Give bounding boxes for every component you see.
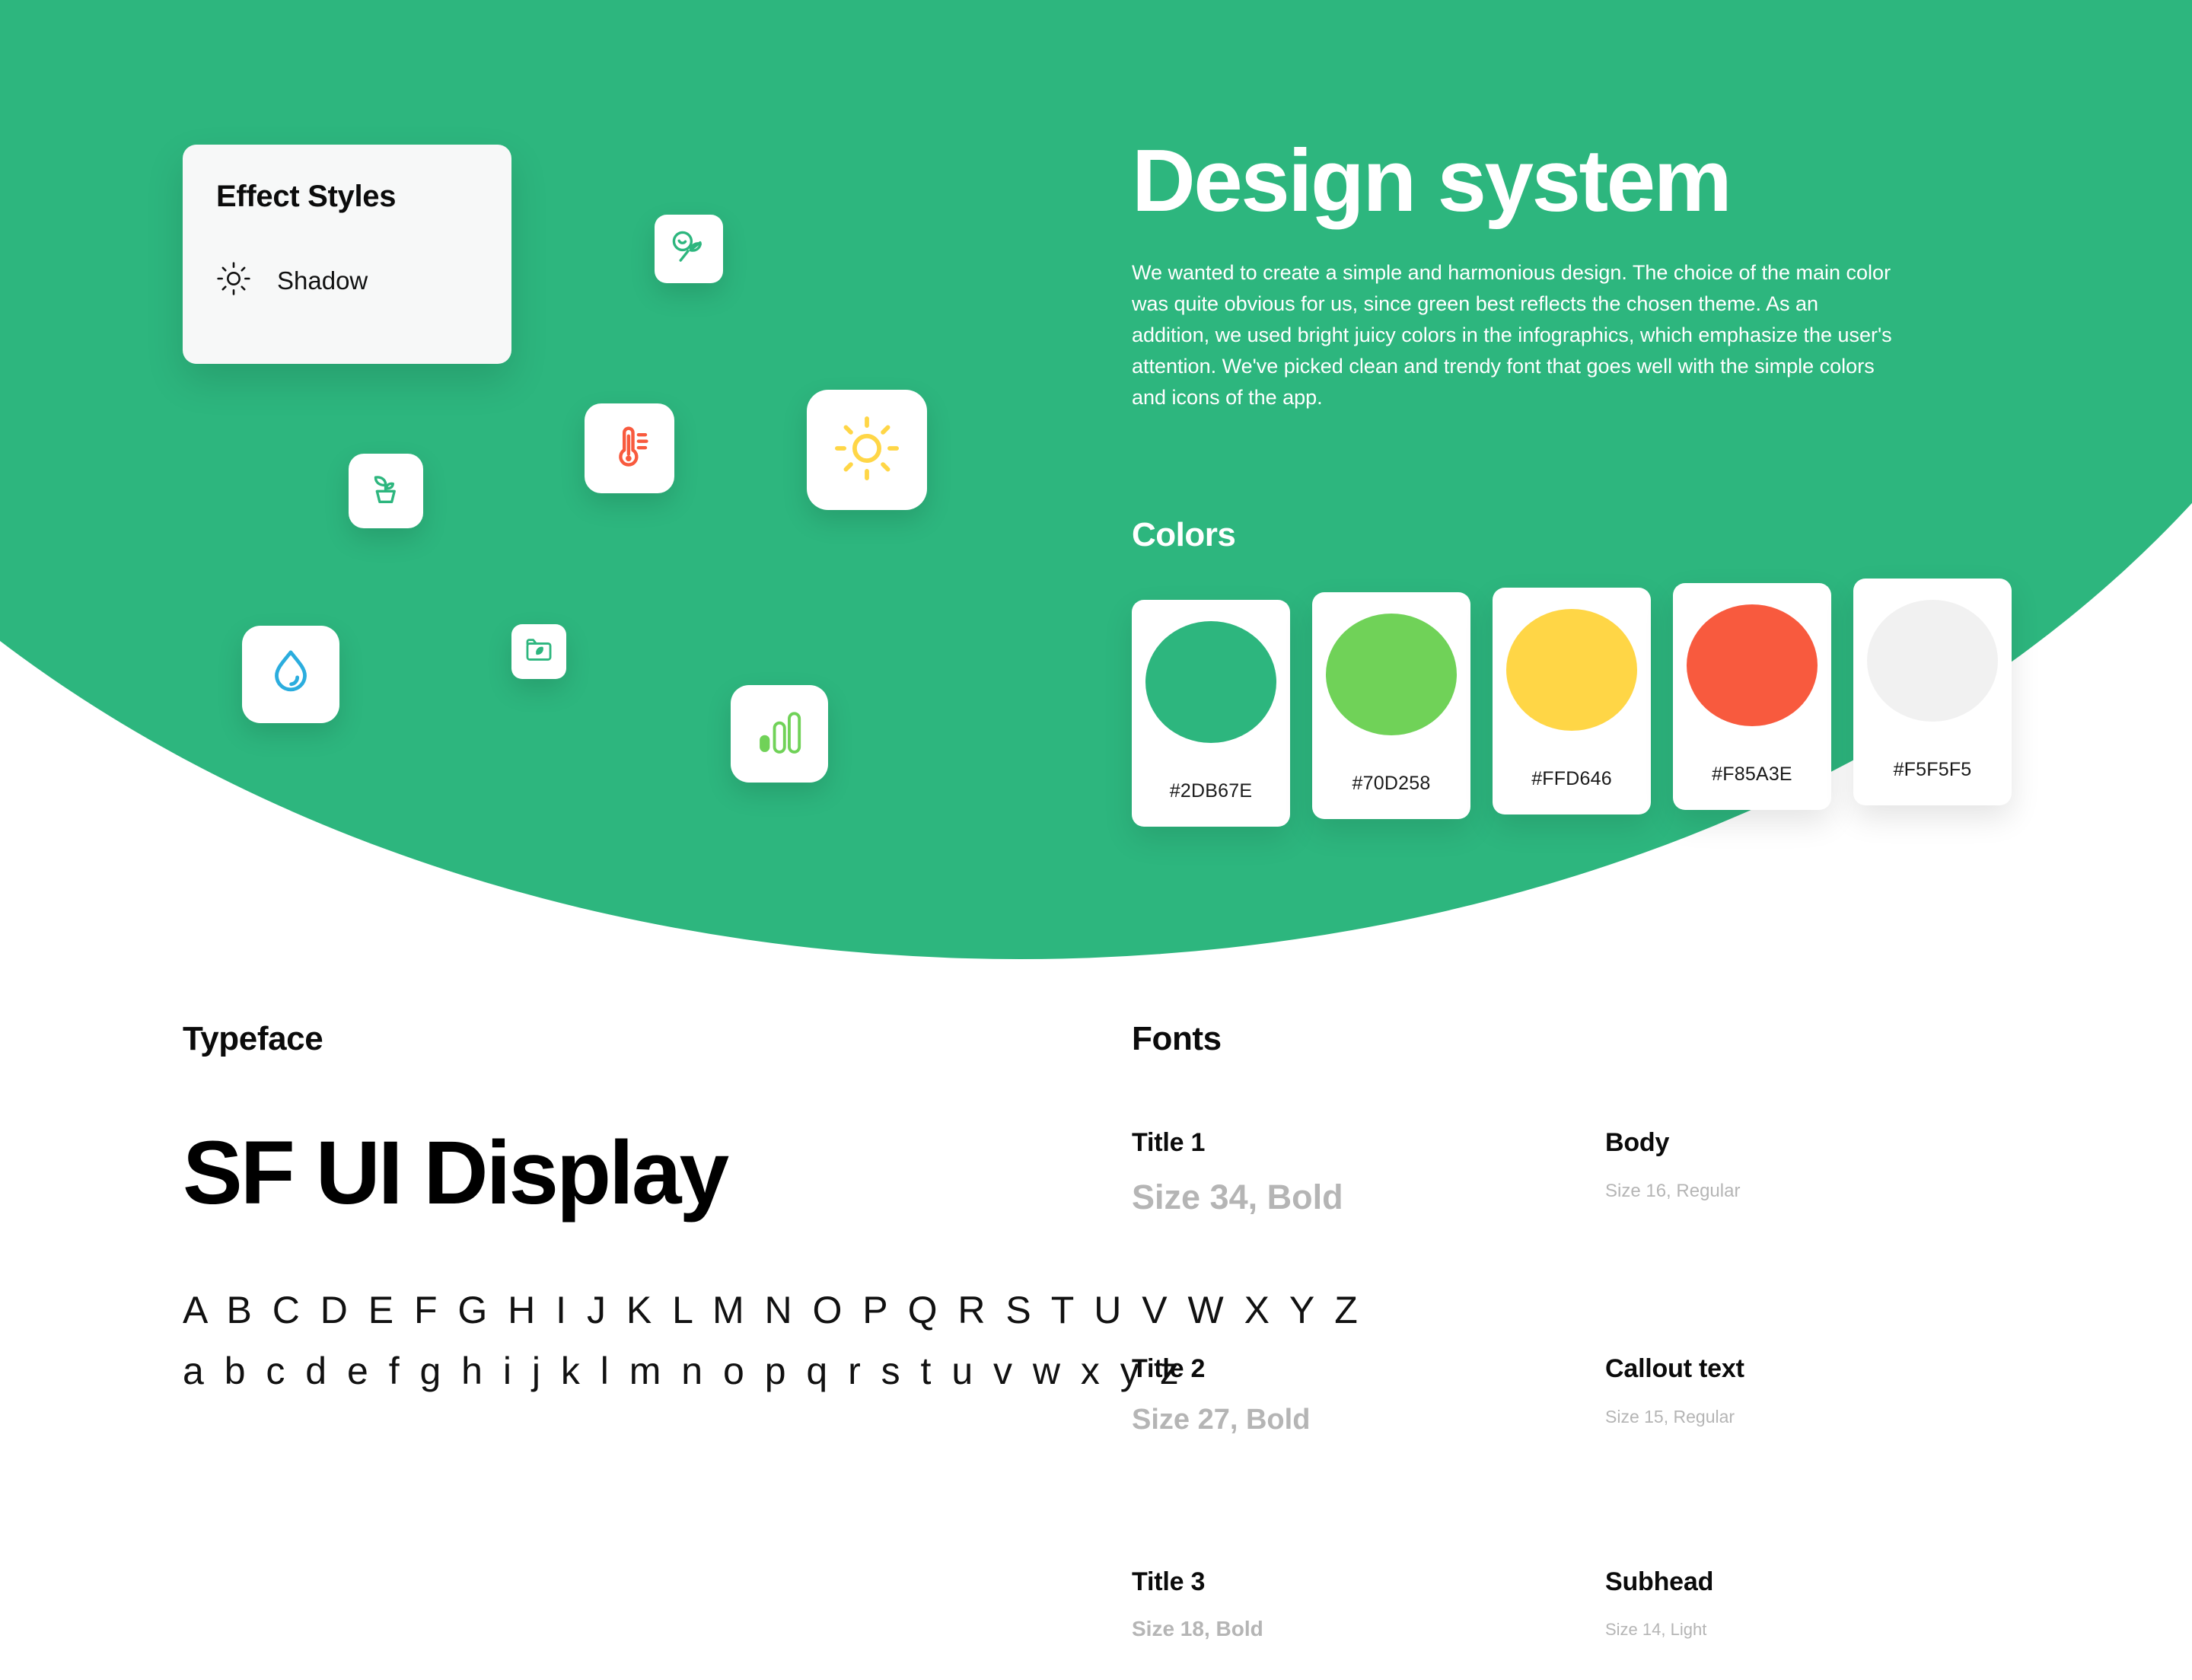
font-style-item: Title 3 Size 18, Bold xyxy=(1132,1567,1605,1641)
row-spacer xyxy=(1605,1264,2079,1354)
font-style-name: Title 2 xyxy=(1132,1354,1605,1384)
font-style-spec: Size 34, Bold xyxy=(1132,1178,1605,1217)
font-style-spec: Size 14, Light xyxy=(1605,1620,2079,1640)
font-style-spec: Size 18, Bold xyxy=(1132,1617,1605,1641)
font-style-name: Callout text xyxy=(1605,1354,2079,1384)
font-style-name: Subhead xyxy=(1605,1567,2079,1597)
icon-tile-sun[interactable] xyxy=(807,390,927,510)
colors-heading: Colors xyxy=(1132,516,1235,554)
effect-styles-title: Effect Styles xyxy=(216,180,478,214)
color-swatch[interactable]: #2DB67E xyxy=(1132,600,1290,827)
color-swatch-hex: #F5F5F5 xyxy=(1894,759,1972,781)
font-style-item: Body Size 16, Regular xyxy=(1605,1128,2079,1217)
font-style-item: Title 2 Size 27, Bold xyxy=(1132,1354,1605,1436)
sun-icon xyxy=(832,413,902,487)
design-system-page: Effect Styles Shadow xyxy=(0,0,2192,1680)
brightness-sun-icon xyxy=(216,261,251,300)
color-swatch[interactable]: #FFD646 xyxy=(1493,588,1651,814)
typeface-section: Typeface SF UI Display A B C D E F G H I… xyxy=(183,1020,1081,1393)
color-swatch-dot xyxy=(1326,614,1457,735)
fonts-section: Fonts Title 1 Size 34, Bold Body Size 16… xyxy=(1132,1020,2083,1680)
color-swatch-hex: #F85A3E xyxy=(1712,763,1792,786)
font-style-name: Body xyxy=(1605,1128,2079,1158)
font-style-name: Title 3 xyxy=(1132,1567,1605,1597)
water-drop-icon xyxy=(263,645,319,705)
font-style-name: Title 1 xyxy=(1132,1128,1605,1158)
color-swatch-dot xyxy=(1867,600,1998,722)
color-swatch[interactable]: #F85A3E xyxy=(1673,583,1831,810)
color-swatch-hex: #2DB67E xyxy=(1170,780,1252,802)
fonts-heading: Fonts xyxy=(1132,1020,2083,1058)
folder-leaf-icon xyxy=(523,634,555,670)
plant-search-icon xyxy=(668,227,709,272)
color-swatch-dot xyxy=(1687,604,1818,726)
color-swatch-hex: #70D258 xyxy=(1352,773,1431,795)
color-swatch-dot xyxy=(1145,621,1276,743)
effect-style-row-shadow[interactable]: Shadow xyxy=(216,261,478,300)
thermometer-icon xyxy=(604,421,655,477)
bar-chart-icon xyxy=(751,704,808,764)
row-spacer xyxy=(1605,1484,2079,1567)
color-swatch-hex: #FFD646 xyxy=(1531,768,1612,790)
font-style-item: Title 1 Size 34, Bold xyxy=(1132,1128,1605,1217)
font-style-item: Callout text Size 15, Regular xyxy=(1605,1354,2079,1436)
hero-description: We wanted to create a simple and harmoni… xyxy=(1132,257,1893,413)
icon-tile-plant-search[interactable] xyxy=(655,215,723,283)
icon-tile-water-drop[interactable] xyxy=(242,626,339,723)
row-spacer xyxy=(1132,1484,1605,1567)
font-style-spec: Size 16, Regular xyxy=(1605,1181,2079,1202)
page-title: Design system xyxy=(1132,135,1900,225)
row-spacer xyxy=(1132,1264,1605,1354)
color-swatch[interactable]: #F5F5F5 xyxy=(1853,579,2012,805)
alphabet-uppercase: A B C D E F G H I J K L M N O P Q R S T … xyxy=(183,1288,1081,1332)
typeface-name: SF UI Display xyxy=(183,1128,1081,1218)
icon-tile-bar-chart[interactable] xyxy=(731,685,828,783)
alphabet-lowercase: a b c d e f g h i j k l m n o p q r s t … xyxy=(183,1349,1081,1393)
color-swatch-dot xyxy=(1506,609,1637,731)
font-style-spec: Size 15, Regular xyxy=(1605,1407,2079,1427)
icon-tile-potted-plant[interactable] xyxy=(349,454,423,528)
fonts-grid: Title 1 Size 34, Bold Body Size 16, Regu… xyxy=(1132,1128,2083,1680)
potted-plant-icon xyxy=(365,468,407,515)
font-style-spec: Size 27, Bold xyxy=(1132,1404,1605,1436)
font-style-item: Subhead Size 14, Light xyxy=(1605,1567,2079,1641)
effect-style-label: Shadow xyxy=(277,266,368,295)
color-swatch[interactable]: #70D258 xyxy=(1312,592,1470,819)
hero-copy: Design system We wanted to create a simp… xyxy=(1132,135,1900,413)
icon-tile-folder-leaf[interactable] xyxy=(511,624,566,679)
typeface-heading: Typeface xyxy=(183,1020,1081,1058)
effect-styles-card: Effect Styles Shadow xyxy=(183,145,511,364)
icon-tile-thermometer[interactable] xyxy=(585,403,674,493)
